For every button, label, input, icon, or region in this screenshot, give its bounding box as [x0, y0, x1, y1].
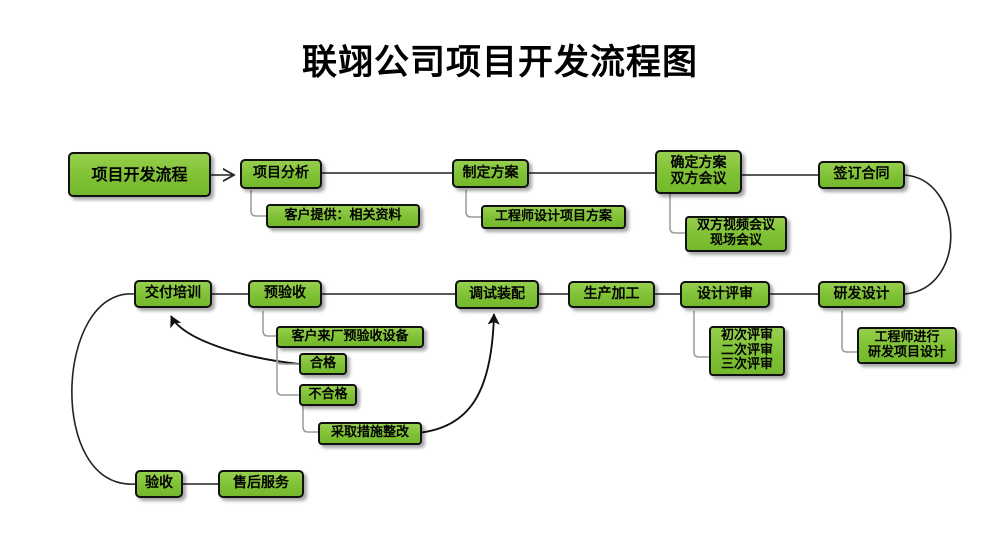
- node-confirm-plan-bilateral-meeting[interactable]: 确定方案 双方会议: [655, 150, 742, 194]
- connector-layer: [0, 0, 1000, 541]
- node-engineer-rnd-project-design[interactable]: 工程师进行 研发项目设计: [857, 327, 957, 364]
- elbow-m6-sub: [842, 311, 857, 352]
- elbow-n3-sub: [466, 190, 481, 217]
- node-sign-contract[interactable]: 签订合同: [818, 161, 905, 189]
- elbow-n2-sub: [251, 190, 266, 216]
- node-design-review[interactable]: 设计评审: [680, 281, 770, 308]
- elbow-m2-sub: [263, 311, 276, 336]
- edge-n5-m6: [905, 175, 951, 294]
- node-video-or-onsite-meeting[interactable]: 双方视频会议 现场会议: [685, 216, 787, 252]
- node-rnd-design[interactable]: 研发设计: [818, 281, 905, 308]
- node-project-development-process[interactable]: 项目开发流程: [68, 152, 211, 197]
- node-unqualified[interactable]: 不合格: [299, 384, 357, 406]
- elbow-buhege-sub: [303, 405, 318, 432]
- flowchart-canvas: 联翊公司项目开发流程图: [0, 0, 1000, 541]
- node-pre-acceptance[interactable]: 预验收: [248, 280, 322, 308]
- elbow-n4-sub: [670, 194, 685, 233]
- node-customer-visits-factory-pre-acceptance[interactable]: 客户来厂预验收设备: [276, 326, 424, 348]
- node-review-rounds[interactable]: 初次评审 二次评审 三次评审: [709, 326, 785, 376]
- edge-m1-b1: [72, 294, 135, 484]
- node-take-corrective-measures[interactable]: 采取措施整改: [318, 422, 422, 445]
- node-delivery-training[interactable]: 交付培训: [134, 280, 212, 308]
- node-debug-assembly[interactable]: 调试装配: [455, 280, 539, 309]
- node-customer-provides-materials[interactable]: 客户提供：相关资料: [266, 204, 420, 228]
- node-make-plan[interactable]: 制定方案: [452, 159, 529, 188]
- node-project-analysis[interactable]: 项目分析: [240, 159, 322, 189]
- node-after-sales-service[interactable]: 售后服务: [218, 470, 304, 498]
- node-acceptance[interactable]: 验收: [135, 470, 183, 498]
- node-engineer-designs-project-plan[interactable]: 工程师设计项目方案: [481, 205, 626, 229]
- node-production-processing[interactable]: 生产加工: [568, 281, 655, 308]
- edge-zhenggai-to-tiaoshi: [417, 314, 494, 433]
- node-qualified[interactable]: 合格: [299, 353, 347, 375]
- elbow-m5-sub: [694, 311, 709, 357]
